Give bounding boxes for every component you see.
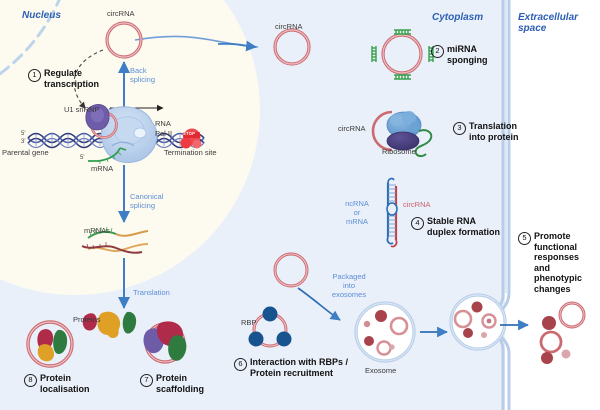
label-u1-snrnp: U1 snRNP: [64, 105, 99, 114]
label-stop-sign: STOP: [183, 131, 195, 136]
label-circrna-duplex: circRNA: [403, 200, 431, 209]
step-7-number: 7: [140, 374, 153, 387]
label-circrna-cytoplasm: circRNA: [275, 22, 303, 31]
extracellular-line-2: space: [518, 23, 546, 34]
step-1-regulate-transcription[interactable]: 1 Regulatetranscription: [28, 68, 123, 89]
label-termination-site: Termination site: [164, 148, 217, 157]
label-exosome: Exosome: [365, 366, 396, 375]
step-6-label: Interaction with RBPs /Protein recruitme…: [250, 357, 348, 378]
arrow-label-packaged-into-exosomes: Packaged into exosomes: [320, 272, 378, 299]
compartment-label-cytoplasm: Cytoplasm: [432, 12, 483, 23]
label-3-prime: 3': [21, 139, 25, 145]
step-3-number: 3: [453, 122, 466, 135]
arrow-label-translation: Translation: [133, 288, 170, 297]
step-7-protein-scaffolding[interactable]: 7 Proteinscaffolding: [140, 373, 218, 394]
step-4-label: Stable RNAduplex formation: [427, 216, 500, 237]
step-8-label: Proteinlocalisation: [40, 373, 90, 394]
step-2-number: 2: [431, 45, 444, 58]
extracellular-line-1: Extracellular: [518, 12, 578, 23]
label-ncrna-or-mrna: ncRNA or mRNA: [336, 199, 378, 226]
label-5-prime: 5': [21, 131, 25, 137]
step-5-number: 5: [518, 232, 531, 245]
label-mrnas: mRNAs: [84, 226, 110, 235]
label-proteins: Proteins: [73, 315, 101, 324]
label-rna-pol-ii: RNAPol II: [155, 119, 172, 138]
step-5-promote-functional-responses[interactable]: 5 Promotefunctional responsesand phenoty…: [518, 231, 596, 294]
arrow-label-back-splicing: Backsplicing: [130, 66, 155, 84]
step-7-label: Proteinscaffolding: [156, 373, 204, 394]
arrow-label-canonical-splicing: Canonicalsplicing: [130, 192, 163, 210]
step-6-number: 6: [234, 358, 247, 371]
label-circrna-nucleus: circRNA: [107, 9, 135, 18]
figure-canvas: Nucleus Cytoplasm Extracellular space 1 …: [0, 0, 600, 410]
step-6-interaction-with-rbps[interactable]: 6 Interaction with RBPs /Protein recruit…: [234, 357, 384, 378]
step-3-label: Translationinto protein: [469, 121, 519, 142]
label-parental-gene: Parental gene: [2, 148, 49, 157]
step-1-number: 1: [28, 69, 41, 82]
label-circrna-ribosome: circRNA: [338, 124, 366, 133]
label-5-prime-mrna: 5': [80, 155, 84, 161]
step-5-label: Promotefunctional responsesand phenotypi…: [534, 231, 582, 294]
step-8-protein-localisation[interactable]: 8 Proteinlocalisation: [24, 373, 104, 394]
step-2-label: miRNAsponging: [447, 44, 488, 65]
compartment-label-extracellular: Extracellular space: [518, 12, 578, 34]
step-2-mirna-sponging[interactable]: 2 miRNAsponging: [431, 44, 511, 65]
step-3-translation-into-protein[interactable]: 3 Translationinto protein: [453, 121, 543, 142]
label-ribosome: Ribosome: [382, 147, 416, 156]
step-4-number: 4: [411, 217, 424, 230]
step-1-label: Regulatetranscription: [44, 68, 99, 89]
step-8-number: 8: [24, 374, 37, 387]
compartment-label-nucleus: Nucleus: [22, 10, 61, 21]
step-4-stable-rna-duplex-formation[interactable]: 4 Stable RNAduplex formation: [411, 216, 516, 237]
label-rbp: RBP: [241, 318, 256, 327]
label-mrna: mRNA: [91, 164, 113, 173]
